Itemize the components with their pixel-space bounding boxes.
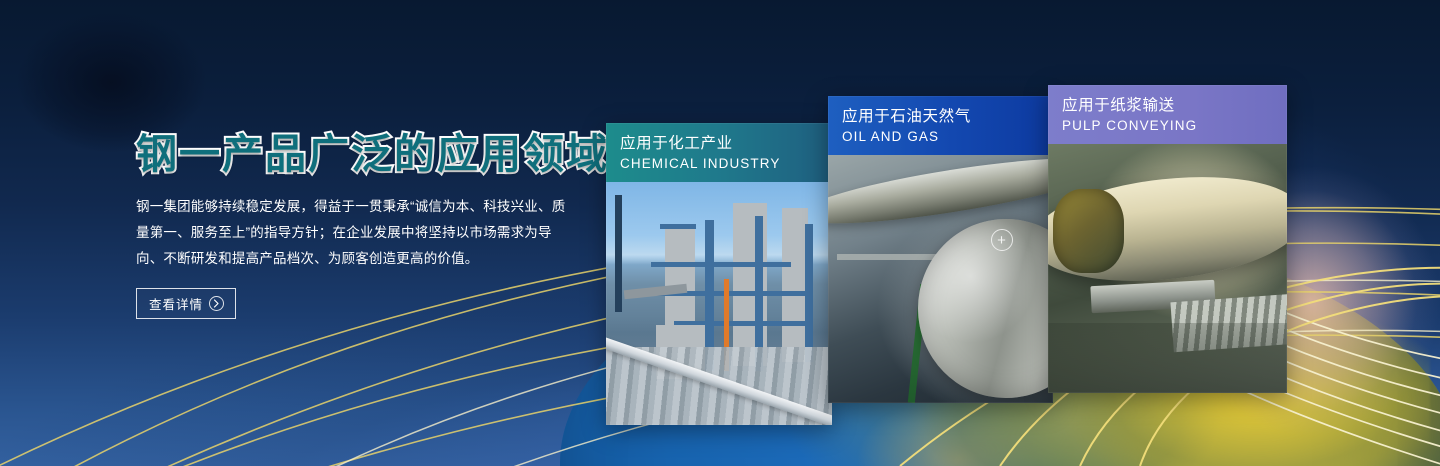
page-title: 钢一产品广泛的应用领域 — [136, 132, 588, 176]
chemical-plant-illustration — [606, 182, 832, 425]
steel-vessel — [918, 219, 1053, 398]
card-title-en: OIL AND GAS — [842, 127, 1053, 146]
chevron-right-circle-icon — [209, 296, 224, 311]
card-photo-oilgas: + — [828, 155, 1053, 403]
roller-hub — [1053, 189, 1125, 274]
card-title-cn: 应用于石油天然气 — [842, 106, 1053, 127]
zoom-plus-icon[interactable]: + — [991, 229, 1013, 251]
card-title-en: PULP CONVEYING — [1062, 116, 1287, 135]
industry-card-oilgas[interactable]: 应用于石油天然气 OIL AND GAS + — [828, 96, 1053, 403]
hero-banner: 钢一产品广泛的应用领域 钢一集团能够持续稳定发展，得益于一贯秉承“诚信为本、科技… — [0, 0, 1440, 466]
card-title-band: 应用于化工产业 CHEMICAL INDUSTRY — [606, 123, 832, 182]
card-photo-chemical — [606, 182, 832, 425]
lower-machinery — [1048, 323, 1287, 393]
view-details-label: 查看详情 — [149, 294, 203, 313]
card-title-en: CHEMICAL INDUSTRY — [620, 154, 832, 173]
banner-description: 钢一集团能够持续稳定发展，得益于一贯秉承“诚信为本、科技兴业、质量第一、服务至上… — [136, 194, 576, 272]
banner-copy: 钢一产品广泛的应用领域 钢一集团能够持续稳定发展，得益于一贯秉承“诚信为本、科技… — [136, 132, 588, 319]
card-title-band: 应用于纸浆输送 PULP CONVEYING — [1048, 85, 1287, 144]
card-title-cn: 应用于纸浆输送 — [1062, 95, 1287, 116]
card-title-cn: 应用于化工产业 — [620, 133, 832, 154]
view-details-button[interactable]: 查看详情 — [136, 288, 236, 319]
oil-gas-plant-illustration: + — [828, 155, 1053, 403]
card-title-band: 应用于石油天然气 OIL AND GAS — [828, 96, 1053, 155]
card-photo-pulp — [1048, 144, 1287, 393]
industry-card-chemical[interactable]: 应用于化工产业 CHEMICAL INDUSTRY — [606, 123, 832, 425]
industry-card-pulp[interactable]: 应用于纸浆输送 PULP CONVEYING — [1048, 85, 1287, 393]
pulp-machine-illustration — [1048, 144, 1287, 393]
